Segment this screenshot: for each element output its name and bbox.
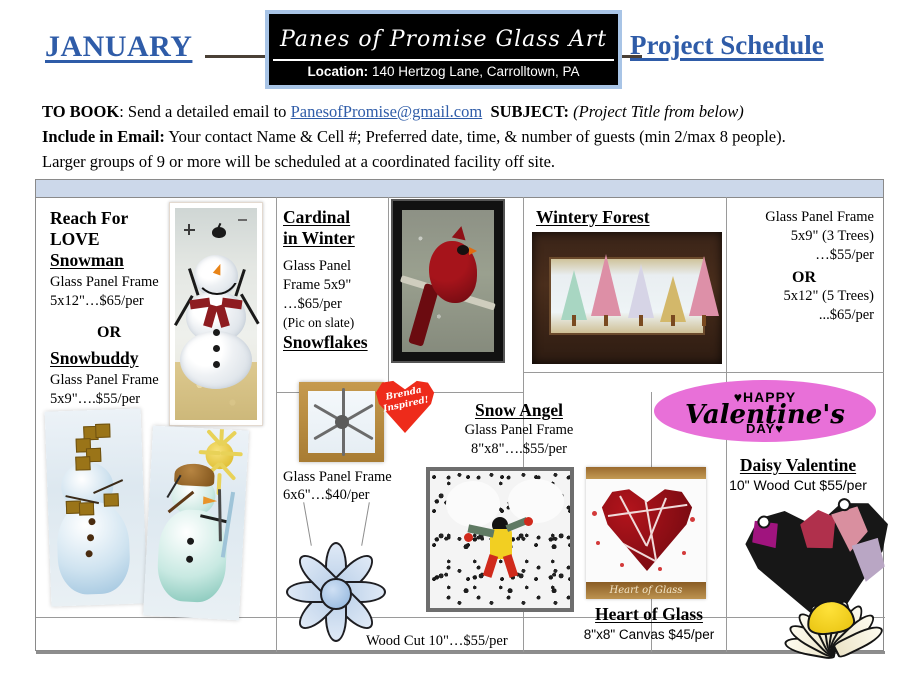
sb2-ray-7 bbox=[199, 450, 221, 455]
heart-of-glass-price: 8"x8" Canvas $45/per bbox=[559, 625, 739, 644]
booking-line-2: Include in Email: Your contact Name & Ce… bbox=[42, 124, 902, 149]
snowflake-center bbox=[335, 415, 349, 429]
wf-option-2-price: ...$65/per bbox=[734, 306, 874, 325]
hog-speck-3 bbox=[690, 517, 695, 522]
heart-of-glass-block: Heart of Glass 8"x8" Canvas $45/per bbox=[559, 604, 739, 644]
reach-for-love-price: 5x12"…$65/per bbox=[50, 292, 180, 311]
snowbuddy-artwork-2 bbox=[143, 426, 249, 621]
sb1-scarf-3 bbox=[104, 493, 119, 507]
daisy-valentine-artwork bbox=[738, 490, 905, 640]
sa-mitten-left bbox=[464, 533, 473, 542]
logo-location: Location: 140 Hertzog Lane, Carrolltown,… bbox=[269, 62, 618, 82]
reach-for-love-title-1: Reach For bbox=[50, 208, 180, 229]
snowbuddy-price: 5x9"….$55/per bbox=[50, 390, 180, 409]
flyer-page: JANUARY Panes of Promise Glass Art Locat… bbox=[0, 0, 921, 692]
reach-for-love-or: OR bbox=[50, 324, 168, 342]
table-header-band bbox=[36, 180, 883, 198]
suncatcher-price: Wood Cut 10"…$55/per bbox=[366, 632, 546, 651]
cardinal-line-2: Frame 5x9" bbox=[283, 276, 383, 295]
wf-tree-5 bbox=[687, 256, 721, 326]
reach-for-love-block: Reach For LOVE Snowman Glass Panel Frame… bbox=[50, 208, 180, 409]
row-divider-1 bbox=[523, 372, 884, 373]
sb1-scarf-2 bbox=[79, 502, 94, 516]
include-text: Your contact Name & Cell #; Preferred da… bbox=[165, 127, 786, 146]
wf-tree-1-foliage bbox=[561, 270, 587, 320]
header-rule-left bbox=[205, 55, 268, 58]
booking-instructions: TO BOOK: Send a detailed email to Paneso… bbox=[42, 99, 902, 174]
hog-speck-1 bbox=[592, 511, 597, 516]
cardinal-artwork bbox=[391, 199, 505, 363]
sc-center bbox=[320, 578, 352, 610]
snowflake-tile-artwork bbox=[299, 382, 384, 462]
wf-tree-3 bbox=[625, 260, 657, 326]
snowbuddy-artwork-1 bbox=[45, 408, 148, 606]
wf-tree-2 bbox=[589, 254, 623, 326]
month-title: JANUARY bbox=[45, 30, 192, 64]
heart-of-glass-title: Heart of Glass bbox=[595, 604, 703, 625]
subject-label: SUBJECT: bbox=[490, 102, 569, 121]
projects-table: Reach For LOVE Snowman Glass Panel Frame… bbox=[35, 179, 884, 651]
sa-wing-impression-left bbox=[446, 481, 500, 527]
hog-mosaic-heart bbox=[600, 485, 694, 571]
reach-for-love-title-3: Snowman bbox=[50, 250, 180, 271]
sb1-hat-block-2 bbox=[95, 423, 110, 438]
wf-tree-3-trunk bbox=[639, 315, 643, 326]
hog-bottom-band: Heart of Glass bbox=[586, 582, 706, 599]
wf-tree-4-trunk bbox=[671, 315, 675, 326]
sb1-hat-block-5 bbox=[75, 456, 90, 471]
column-divider-2 bbox=[388, 197, 389, 392]
valentine-day: DAY bbox=[746, 421, 775, 436]
column-divider-4 bbox=[726, 197, 727, 389]
page-header: JANUARY Panes of Promise Glass Art Locat… bbox=[0, 0, 921, 96]
sb2-nose-icon bbox=[203, 496, 217, 505]
snowflake-suncatcher-artwork bbox=[279, 502, 389, 642]
wf-opt1-text: 5x9" (3 Trees) bbox=[791, 228, 874, 244]
snowflake-mark-3 bbox=[238, 219, 247, 221]
hog-top-band bbox=[586, 467, 706, 479]
column-divider-1 bbox=[276, 197, 277, 652]
snowbuddy-title: Snowbuddy bbox=[50, 348, 180, 369]
cardinal-beak-icon bbox=[469, 247, 477, 255]
wintery-forest-artwork bbox=[532, 232, 722, 364]
snow-angel-block: Snow Angel Glass Panel Frame 8"x8"….$55/… bbox=[429, 400, 609, 459]
wintery-forest-block: Wintery Forest bbox=[536, 207, 696, 228]
wf-option-1-price: …$55/per bbox=[734, 246, 874, 265]
wf-option-2-size: 5x12" (5 Trees) bbox=[734, 287, 874, 306]
wf-or: OR bbox=[734, 269, 874, 287]
valentine-day-line: DAY♥ bbox=[654, 421, 876, 436]
page-title: Project Schedule bbox=[630, 30, 824, 61]
snowman-button-2 bbox=[213, 345, 220, 352]
sa-wing-impression-right bbox=[508, 479, 564, 523]
snow-angel-artwork bbox=[426, 467, 574, 612]
snowflakes-frame: Glass Panel Frame bbox=[283, 468, 413, 487]
hog-speck-2 bbox=[596, 541, 600, 545]
cardinal-line-3: …$65/per bbox=[283, 295, 383, 314]
wf-tree-5-trunk bbox=[702, 315, 706, 326]
wf-tree-1 bbox=[559, 264, 589, 326]
booking-line-1: TO BOOK: Send a detailed email to Paneso… bbox=[42, 99, 902, 124]
snowman-artwork bbox=[169, 202, 263, 426]
brenda-inspired-badge: Brenda Inspired! bbox=[374, 377, 436, 433]
sb2-ski-pole bbox=[218, 489, 222, 541]
suncatcher-chain-left bbox=[303, 502, 312, 546]
cardinal-block: Cardinal in Winter Glass Panel Frame 5x9… bbox=[283, 207, 383, 332]
hog-canvas-script: Heart of Glass bbox=[586, 582, 706, 599]
hog-crack-2 bbox=[619, 496, 647, 546]
snowman-button-1 bbox=[213, 329, 220, 336]
cardinal-line-1: Glass Panel bbox=[283, 257, 383, 276]
wf-tree-1-trunk bbox=[572, 315, 576, 326]
valentine-heart-right-icon: ♥ bbox=[775, 421, 784, 436]
hog-speck-6 bbox=[658, 567, 662, 571]
daisy-valentine-title: Daisy Valentine bbox=[740, 455, 856, 476]
hog-speck-5 bbox=[620, 563, 624, 567]
wf-frame-label: Glass Panel Frame bbox=[734, 208, 874, 227]
logo-divider bbox=[273, 59, 614, 61]
sa-mitten-right bbox=[524, 517, 533, 526]
wf-tree-4 bbox=[657, 268, 689, 326]
logo-location-value: 140 Hertzog Lane, Carrolltown, PA bbox=[372, 64, 580, 79]
daisy-valentine-block: Daisy Valentine 10" Wood Cut $55/per bbox=[708, 455, 888, 495]
snowbuddy-frame: Glass Panel Frame bbox=[50, 371, 180, 390]
wf-glass-panel bbox=[549, 257, 705, 335]
snow-angel-frame: Glass Panel Frame bbox=[429, 421, 609, 440]
heart-of-glass-artwork: Heart of Glass bbox=[586, 467, 706, 599]
reach-for-love-frame: Glass Panel Frame bbox=[50, 273, 180, 292]
snowflake-tile-glass bbox=[308, 391, 375, 453]
snowman-button-3 bbox=[213, 361, 220, 368]
reach-for-love-title-2: LOVE bbox=[50, 229, 180, 250]
snow-angel-title: Snow Angel bbox=[475, 400, 563, 421]
snowman-base bbox=[180, 331, 252, 389]
logo-name: Panes of Promise Glass Art bbox=[269, 18, 618, 62]
include-label: Include in Email: bbox=[42, 127, 165, 146]
email-link[interactable]: PanesofPromise@gmail.com bbox=[291, 102, 483, 121]
suncatcher-body bbox=[279, 542, 389, 642]
wf-tree-2-foliage bbox=[591, 254, 621, 316]
booking-line-3: Larger groups of 9 or more will be sched… bbox=[42, 149, 902, 174]
logo-box: Panes of Promise Glass Art Location: 140… bbox=[265, 10, 622, 89]
row-divider-3 bbox=[36, 617, 276, 618]
wf-tree-2-trunk bbox=[604, 315, 608, 326]
wf-option-1-size: 5x9" (3 Trees) bbox=[734, 227, 874, 246]
table-shadow bbox=[36, 651, 885, 654]
to-book-text: : Send a detailed email to bbox=[119, 102, 290, 121]
snowflakes-title-block: Snowflakes bbox=[283, 332, 393, 353]
suncatcher-chain-right bbox=[361, 502, 370, 546]
cardinal-line-4: (Pic on slate) bbox=[283, 314, 383, 332]
cardinal-title-2: in Winter bbox=[283, 228, 383, 249]
subject-value: (Project Title from below) bbox=[573, 102, 744, 121]
sb2-ski-1 bbox=[221, 492, 235, 558]
wf-tree-3-foliage bbox=[628, 264, 654, 318]
logo-location-label: Location: bbox=[307, 64, 368, 79]
wintery-forest-title: Wintery Forest bbox=[536, 207, 696, 228]
to-book-label: TO BOOK bbox=[42, 102, 119, 121]
snow-angel-price: 8"x8"….$55/per bbox=[429, 440, 609, 459]
hog-speck-4 bbox=[682, 551, 686, 555]
wf-tree-5-foliage bbox=[689, 256, 719, 316]
cardinal-mask bbox=[457, 245, 469, 255]
valentines-banner: ♥HAPPY Valentine's DAY♥ bbox=[654, 380, 876, 442]
wintery-forest-pricing: Glass Panel Frame 5x9" (3 Trees) …$55/pe… bbox=[734, 208, 874, 325]
cardinal-crest bbox=[452, 225, 468, 241]
snowflakes-title: Snowflakes bbox=[283, 332, 393, 353]
snowflake-mark-2 bbox=[188, 224, 190, 235]
cardinal-title-1: Cardinal bbox=[283, 207, 383, 228]
daisy-valentine-price: 10" Wood Cut $55/per bbox=[708, 476, 888, 495]
